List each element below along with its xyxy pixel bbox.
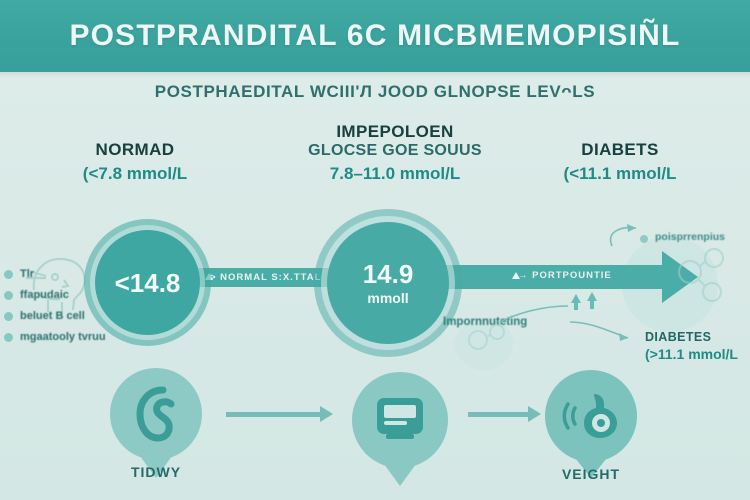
value-circle-impaired-unit: mmoll: [367, 290, 408, 306]
list-item-label: Tlr: [20, 268, 34, 280]
progression-label-left: > NORMAL S:X.TTAL: [210, 272, 321, 283]
annotation-diabetes-title: DIABETES: [645, 330, 750, 344]
list-item: mgaatooly tvruu: [4, 331, 122, 343]
flow-arrow-left: [226, 412, 322, 417]
header-banner: POSTPRANDITAL 6C MICBMEMOPISIÑL: [0, 0, 750, 72]
annotation-impomunating: Impornnuteting: [443, 316, 527, 328]
value-circle-impaired-value: 14.9: [363, 261, 414, 287]
pin-monitor-circle: [352, 372, 448, 468]
pin-weight-label: VEIGHT: [562, 466, 620, 482]
progression-label-right: → PORTPOUNTIE: [518, 270, 612, 281]
pin-glucose-monitor: [352, 372, 448, 468]
list-item: Tlr: [4, 268, 122, 280]
category-normal-label: NORMAD: [20, 140, 250, 160]
list-item: ffapudaic: [4, 289, 122, 301]
bullet-dot-icon: [4, 333, 13, 342]
list-item-label: beluet B cell: [20, 310, 85, 322]
flow-arrow-right: [468, 412, 530, 417]
infographic-canvas: POSTPRANDITAL 6C MICBMEMOPISIÑL POSTPHAE…: [0, 0, 750, 500]
category-impaired-label2: GLOCSE GOE SOUUS: [275, 142, 515, 160]
header-shadow: [0, 72, 750, 78]
value-circle-impaired: 14.9 mmoll: [327, 222, 449, 344]
pin-kidney-circle: [110, 368, 202, 460]
list-item: beluet B cell: [4, 310, 122, 322]
category-diabetes: DIABETS (<11.1 mmol/L: [505, 140, 735, 184]
list-item-label: mgaatooly tvruu: [20, 331, 106, 343]
bullet-dot-icon: [4, 291, 13, 300]
category-diabetes-range: (<11.1 mmol/L: [505, 164, 735, 184]
category-normal-range: (<7.8 mmol/L: [20, 164, 250, 184]
subtitle: POSTPHAEDITAL WCIII'Л JOOD GLNOPSE LEVᴖL…: [0, 82, 750, 102]
glucose-monitor-icon: [371, 394, 429, 446]
category-normal: NORMAD (<7.8 mmol/L: [20, 140, 250, 184]
weight-scale-icon: [560, 388, 622, 444]
annotation-dot-icon: [640, 235, 648, 243]
category-diabetes-label: DIABETS: [505, 140, 735, 160]
risk-factor-list: Tlr ffapudaic beluet B cell mgaatooly tv…: [4, 268, 122, 352]
annotation-diabetes: DIABETES (>11.1 mmol/L: [645, 330, 750, 362]
value-circle-normal-value: <14.8: [115, 270, 181, 296]
category-impaired-label: Impepoloen: [275, 122, 515, 142]
list-item-label: ffapudaic: [20, 289, 69, 301]
kidney-icon: [130, 386, 182, 442]
page-title: POSTPRANDITAL 6C MICBMEMOPISIÑL: [69, 19, 680, 53]
pin-kidney-label: TIDWY: [131, 464, 181, 480]
category-impaired-range: 7.8–11.0 mmol/L: [275, 164, 515, 184]
bullet-dot-icon: [4, 270, 13, 279]
pin-monitor-tail: [381, 460, 419, 486]
pin-kidney: TIDWY: [110, 368, 202, 460]
annotation-diabetes-range: (>11.1 mmol/L: [645, 346, 750, 362]
pin-weight-circle: [545, 370, 637, 462]
progression-arrowhead: [662, 251, 698, 303]
pin-weight: VEIGHT: [545, 370, 637, 462]
category-impaired: Impepoloen GLOCSE GOE SOUUS 7.8–11.0 mmo…: [275, 122, 515, 184]
annotation-postprandial: poisprrenpius: [655, 231, 725, 243]
bullet-dot-icon: [4, 312, 13, 321]
